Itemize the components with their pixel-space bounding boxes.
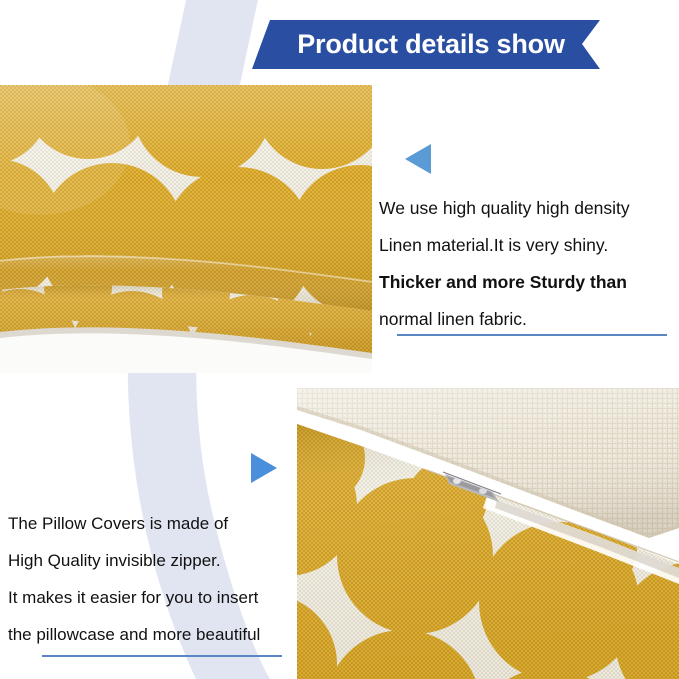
fabric-description-line-2: Linen material.It is very shiny.: [379, 227, 630, 264]
zipper-description: The Pillow Covers is made of High Qualit…: [8, 505, 260, 653]
zipper-section-divider: [42, 655, 282, 657]
product-details-image: Product details show: [0, 0, 679, 679]
fabric-description: We use high quality high density Linen m…: [379, 190, 630, 338]
left-pointing-triangle-icon: [404, 143, 432, 180]
fabric-section-divider: [397, 334, 667, 336]
triangle-right-svg: [250, 452, 278, 484]
fabric-description-line-1: We use high quality high density: [379, 190, 630, 227]
right-pointing-triangle-icon: [250, 452, 278, 489]
zipper-description-line-1: The Pillow Covers is made of: [8, 505, 260, 542]
triangle-left-svg: [404, 143, 432, 175]
zipper-description-line-2: High Quality invisible zipper.: [8, 542, 260, 579]
banner-title: Product details show: [252, 20, 600, 69]
header-banner: Product details show: [252, 20, 600, 69]
fabric-photo: [0, 85, 372, 373]
zipper-description-line-4: the pillowcase and more beautiful: [8, 616, 260, 653]
zipper-photo-svg: [297, 388, 679, 679]
fabric-photo-svg: [0, 85, 372, 373]
zipper-photo: [297, 388, 679, 679]
fabric-description-line-4: normal linen fabric.: [379, 301, 630, 338]
zipper-description-line-3: It makes it easier for you to insert: [8, 579, 260, 616]
fabric-description-line-3: Thicker and more Sturdy than: [379, 264, 630, 301]
